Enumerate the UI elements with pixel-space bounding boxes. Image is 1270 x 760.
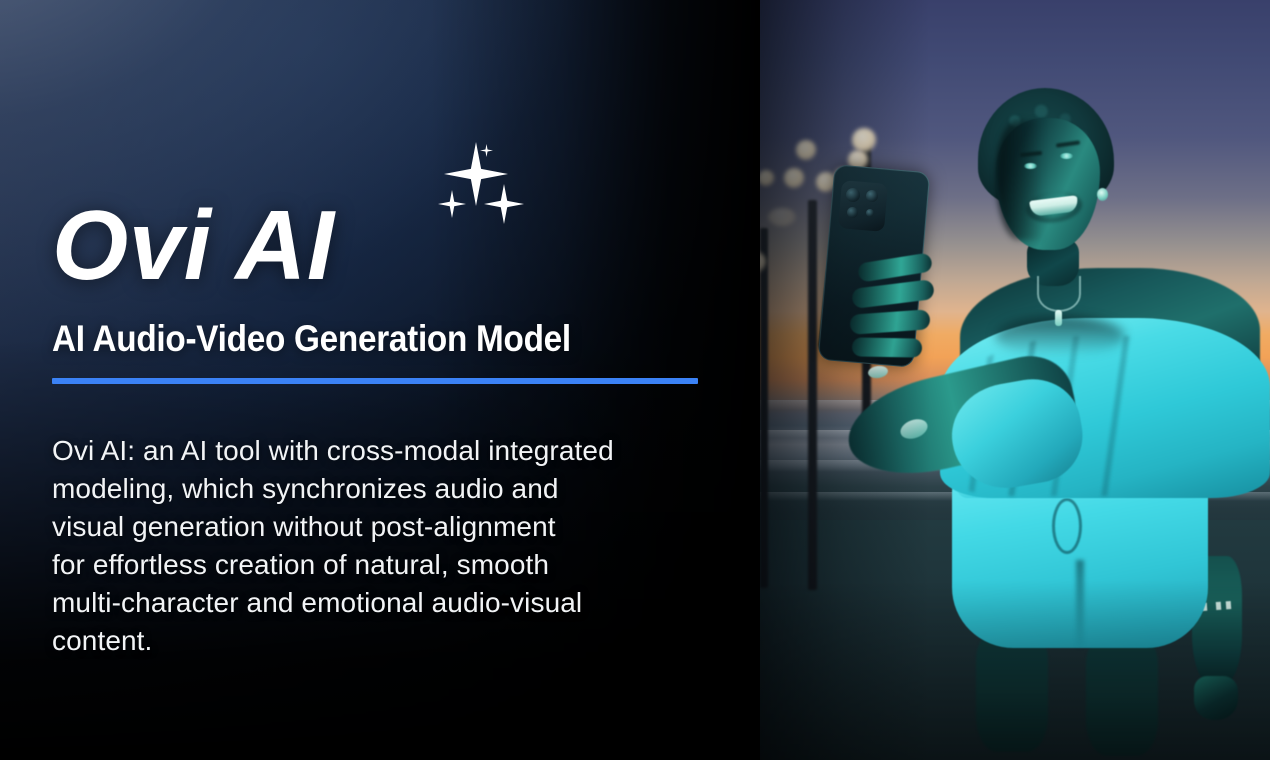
pendant (1055, 310, 1062, 326)
eye (1024, 163, 1037, 169)
earring (1097, 188, 1108, 201)
hero-banner: Ovi AI AI Audio-Video Generation Model O… (0, 0, 1270, 760)
sparkle-icon (484, 184, 524, 224)
sparkle-cluster (430, 132, 540, 232)
banner-subtitle: AI Audio-Video Generation Model (52, 318, 571, 360)
sparkle-icon (438, 190, 466, 218)
accent-divider (52, 378, 698, 384)
sparkle-icon (480, 144, 493, 157)
necklace (1037, 276, 1081, 312)
brand-title: Ovi AI (52, 196, 335, 294)
sparkle-icon (444, 142, 508, 206)
banner-description: Ovi AI: an AI tool with cross-modal inte… (52, 432, 752, 660)
face-shadow (996, 120, 1044, 240)
drawstring (1052, 498, 1082, 554)
eye (1060, 153, 1073, 159)
banner-content: Ovi AI AI Audio-Video Generation Model O… (0, 0, 760, 760)
